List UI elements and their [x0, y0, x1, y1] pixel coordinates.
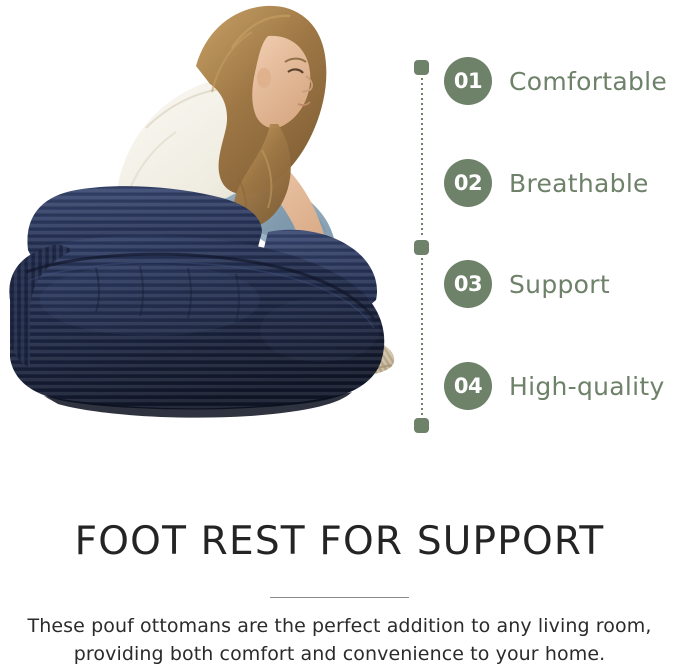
timeline-marker-middle	[414, 240, 429, 255]
timeline-marker-top	[414, 60, 429, 75]
feature-item-1: 01 Comfortable	[444, 57, 667, 105]
feature-label-3: Support	[509, 270, 610, 299]
product-photo	[0, 0, 400, 450]
feature-number-badge-2: 02	[444, 159, 492, 207]
feature-number-badge-1: 01	[444, 57, 492, 105]
description-text: These pouf ottomans are the perfect addi…	[0, 612, 679, 668]
product-feature-banner: 01 Comfortable 02 Breathable 03 Support …	[0, 0, 679, 669]
headline: FOOT REST FOR SUPPORT	[0, 519, 679, 564]
feature-item-2: 02 Breathable	[444, 159, 649, 207]
feature-label-4: High-quality	[509, 372, 665, 401]
feature-number-badge-4: 04	[444, 362, 492, 410]
feature-label-1: Comfortable	[509, 67, 667, 96]
description-line-1: These pouf ottomans are the perfect addi…	[0, 612, 679, 640]
feature-number-badge-3: 03	[444, 260, 492, 308]
feature-item-3: 03 Support	[444, 260, 610, 308]
feature-list: 01 Comfortable 02 Breathable 03 Support …	[400, 60, 679, 440]
headline-divider	[270, 597, 409, 598]
feature-item-4: 04 High-quality	[444, 362, 665, 410]
timeline-marker-bottom	[414, 418, 429, 433]
feature-label-2: Breathable	[509, 169, 649, 198]
description-line-2: providing both comfort and convenience t…	[0, 640, 679, 668]
